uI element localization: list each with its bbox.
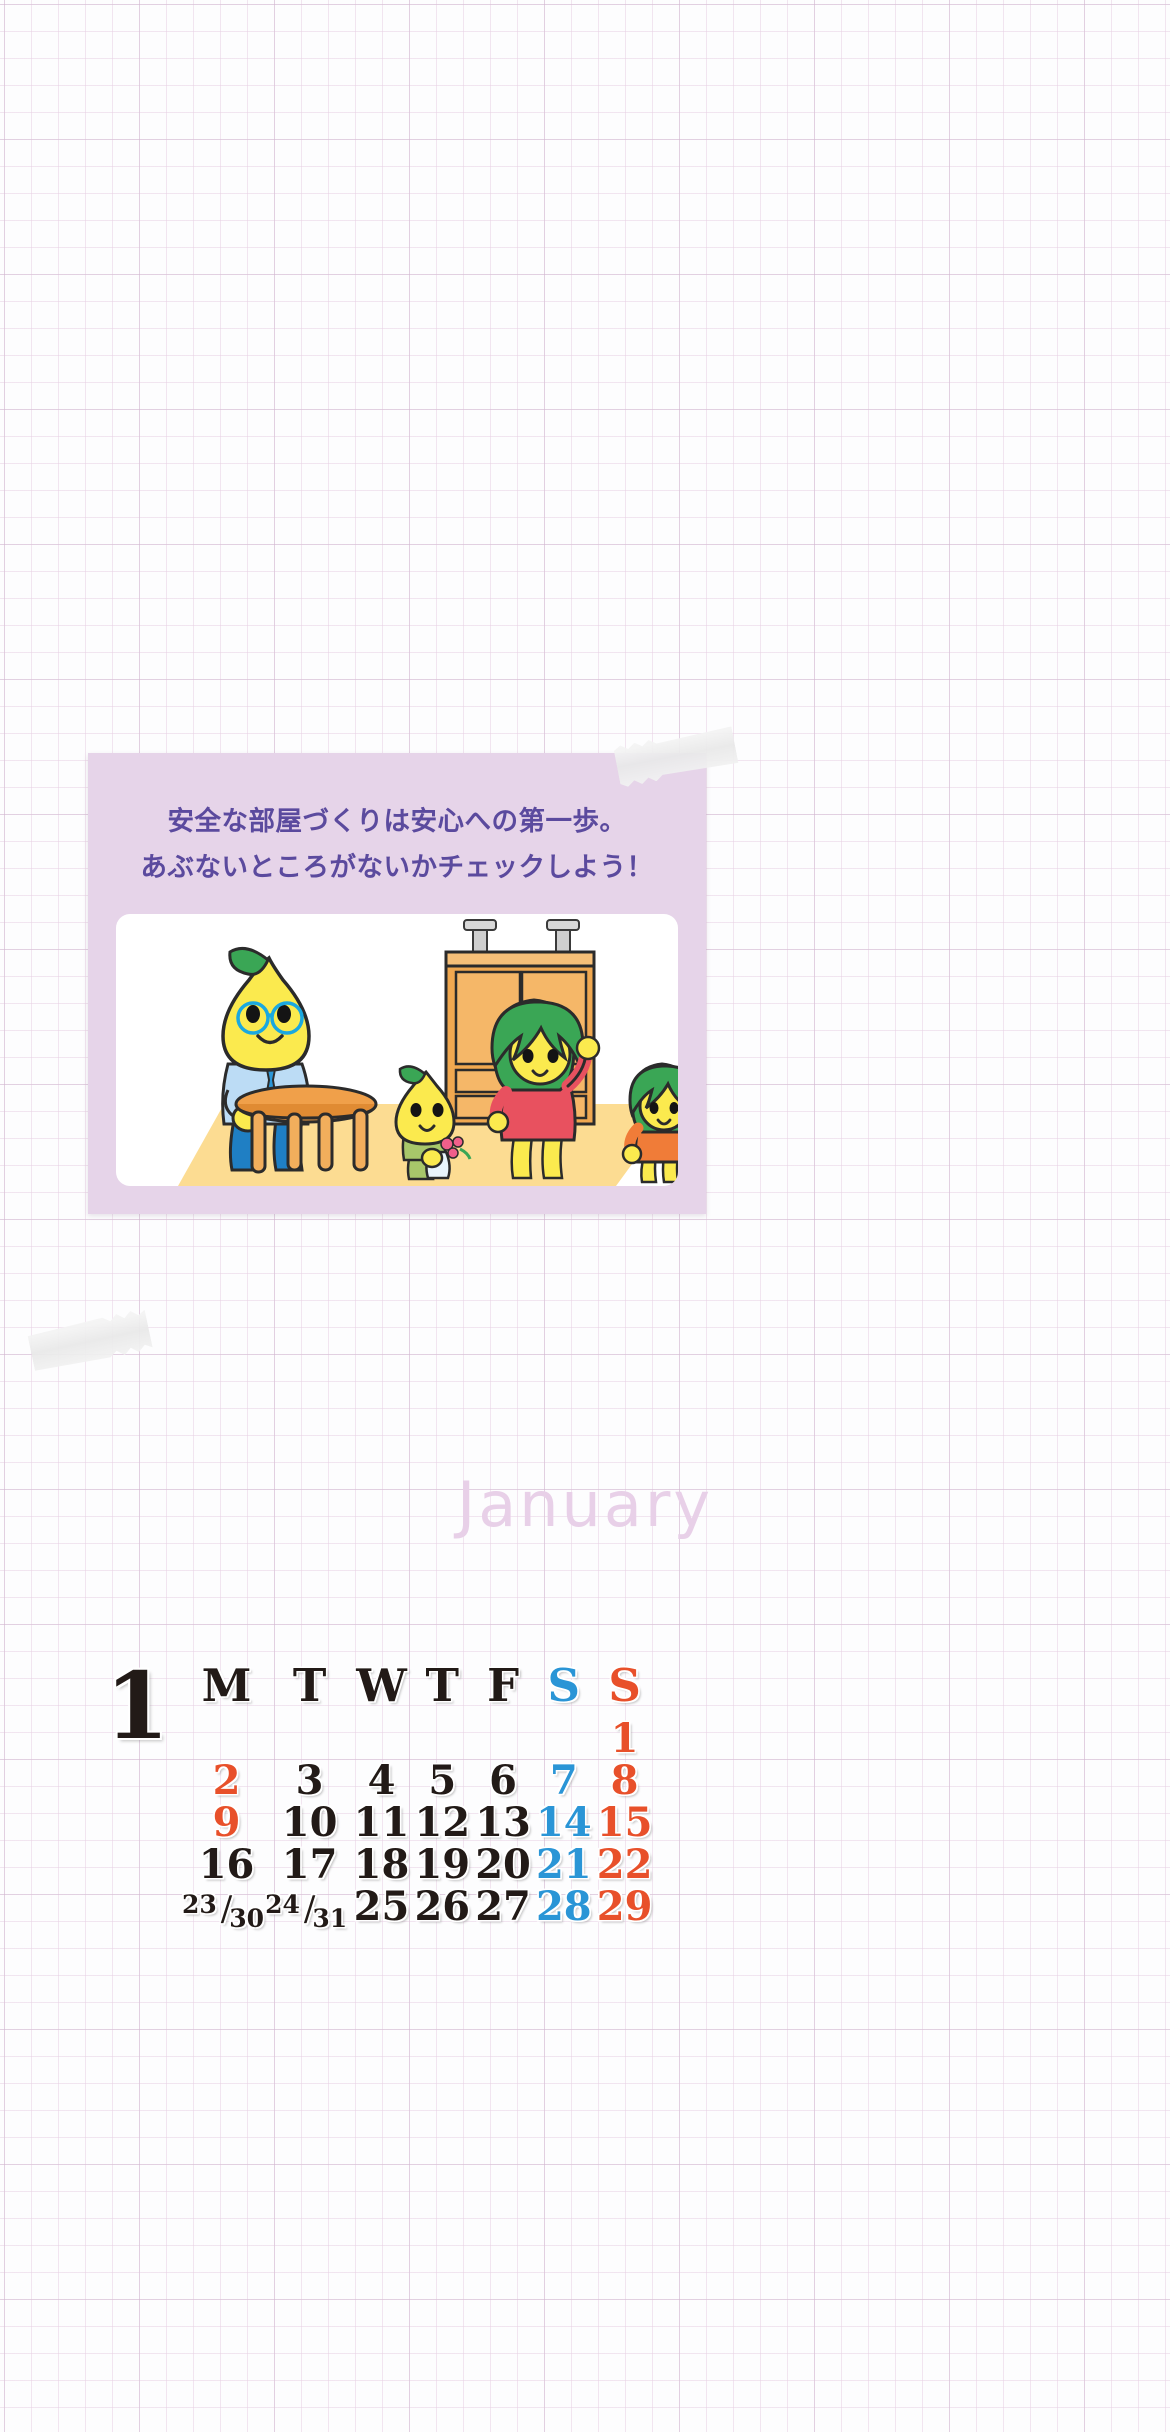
- calendar-day-cell[interactable]: 29: [594, 1886, 655, 1928]
- calendar-cell-empty: [268, 1718, 351, 1760]
- calendar-day-cell[interactable]: 11: [351, 1802, 412, 1844]
- calendar-day-cell[interactable]: 10: [268, 1802, 351, 1844]
- calendar-day-cell[interactable]: 4: [351, 1760, 412, 1802]
- calendar-day-cell[interactable]: 24∕31: [268, 1886, 351, 1928]
- calendar-day-cell[interactable]: 6: [473, 1760, 534, 1802]
- calendar-dual-day[interactable]: 24∕31: [269, 1892, 350, 1926]
- calendar-day-cell[interactable]: 14: [533, 1802, 594, 1844]
- calendar-week-row: 2345678: [185, 1760, 655, 1802]
- card-message-line-1: 安全な部屋づくりは安心への第一歩。: [116, 799, 678, 845]
- card-message: 安全な部屋づくりは安心への第一歩。 あぶないところがないかチェックしよう！: [88, 753, 706, 914]
- month-number: 1: [105, 1665, 169, 1748]
- calendar-dual-day-second[interactable]: 30: [229, 1904, 264, 1933]
- weekday-header-tue: T: [268, 1655, 351, 1718]
- calendar-day-cell[interactable]: 22: [594, 1844, 655, 1886]
- calendar-block: 1 M T W T F S S 123456789101112131415161…: [0, 1655, 1170, 1928]
- calendar-cell-empty: [473, 1718, 534, 1760]
- calendar-day-cell[interactable]: 23∕30: [185, 1886, 268, 1928]
- calendar-dual-day-first[interactable]: 24: [265, 1890, 300, 1919]
- calendar-day-cell[interactable]: 28: [533, 1886, 594, 1928]
- illustration-panel: [116, 914, 678, 1186]
- calendar-day-cell[interactable]: 19: [412, 1844, 473, 1886]
- calendar-cell-empty: [533, 1718, 594, 1760]
- calendar-dual-day[interactable]: 23∕30: [186, 1892, 267, 1926]
- calendar-day-cell[interactable]: 5: [412, 1760, 473, 1802]
- calendar-body: 1234567891011121314151617181920212223∕30…: [185, 1718, 655, 1928]
- calendar-week-row: 23∕3024∕312526272829: [185, 1886, 655, 1928]
- weekday-header-sun: S: [594, 1655, 655, 1718]
- calendar-cell-empty: [351, 1718, 412, 1760]
- room-safety-illustration: [116, 914, 678, 1186]
- calendar-cell-empty: [412, 1718, 473, 1760]
- weekday-header-mon: M: [185, 1655, 268, 1718]
- calendar-day-cell[interactable]: 1: [594, 1718, 655, 1760]
- calendar-day-cell[interactable]: 12: [412, 1802, 473, 1844]
- calendar-day-cell[interactable]: 21: [533, 1844, 594, 1886]
- calendar-day-cell[interactable]: 2: [185, 1760, 268, 1802]
- weekday-header-fri: F: [473, 1655, 534, 1718]
- calendar-day-cell[interactable]: 27: [473, 1886, 534, 1928]
- calendar-day-cell[interactable]: 25: [351, 1886, 412, 1928]
- calendar-day-cell[interactable]: 26: [412, 1886, 473, 1928]
- photo-card: 安全な部屋づくりは安心への第一歩。 あぶないところがないかチェックしよう！: [88, 753, 706, 1214]
- calendar-day-cell[interactable]: 13: [473, 1802, 534, 1844]
- calendar-week-row: 1: [185, 1718, 655, 1760]
- card-message-line-2: あぶないところがないかチェックしよう！: [116, 845, 678, 891]
- calendar-header-row: M T W T F S S: [185, 1655, 655, 1718]
- weekday-header-wed: W: [351, 1655, 412, 1718]
- calendar-week-row: 16171819202122: [185, 1844, 655, 1886]
- calendar-day-cell[interactable]: 18: [351, 1844, 412, 1886]
- weekday-header-sat: S: [533, 1655, 594, 1718]
- month-word: January: [0, 1468, 1170, 1541]
- calendar-day-cell[interactable]: 8: [594, 1760, 655, 1802]
- graph-paper-background: [0, 0, 1170, 2432]
- calendar-dual-day-second[interactable]: 31: [312, 1904, 347, 1933]
- calendar-table: M T W T F S S 12345678910111213141516171…: [185, 1655, 655, 1928]
- calendar-dual-day-first[interactable]: 23: [182, 1890, 217, 1919]
- calendar-day-cell[interactable]: 17: [268, 1844, 351, 1886]
- calendar-day-cell[interactable]: 20: [473, 1844, 534, 1886]
- calendar-day-cell[interactable]: 3: [268, 1760, 351, 1802]
- weekday-header-thu: T: [412, 1655, 473, 1718]
- calendar-day-cell[interactable]: 7: [533, 1760, 594, 1802]
- calendar-week-row: 9101112131415: [185, 1802, 655, 1844]
- calendar-day-cell[interactable]: 15: [594, 1802, 655, 1844]
- calendar-day-cell[interactable]: 16: [185, 1844, 268, 1886]
- calendar-day-cell[interactable]: 9: [185, 1802, 268, 1844]
- calendar-cell-empty: [185, 1718, 268, 1760]
